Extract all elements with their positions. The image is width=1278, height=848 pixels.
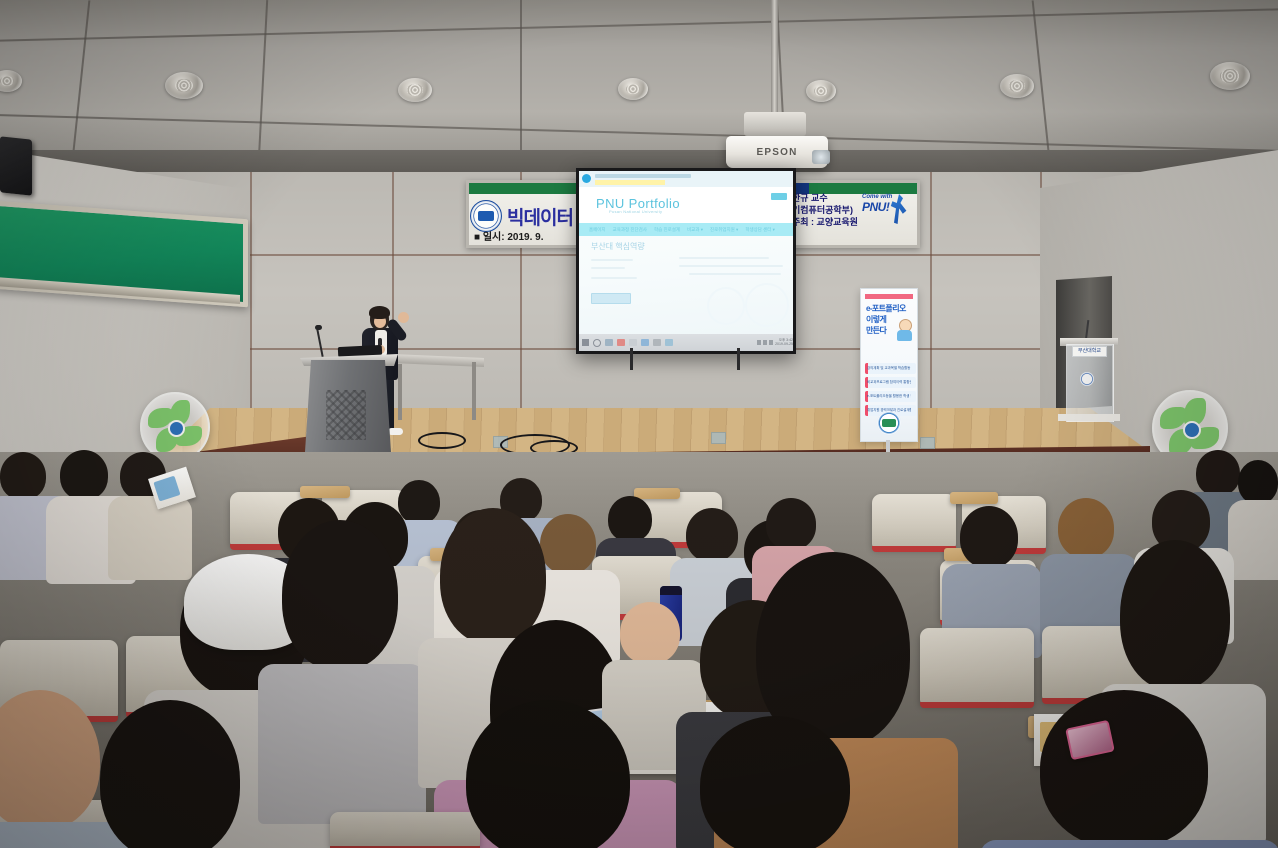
person-torso: [108, 496, 192, 580]
taskbar-app-icon[interactable]: [617, 339, 625, 346]
microphone-icon: [315, 325, 322, 330]
tablet-arm-desk: [300, 486, 350, 498]
tray-icon[interactable]: [763, 340, 767, 345]
banner-date-line: ■ 일시: 2019. 9.: [474, 228, 543, 243]
tablet-arm-desk: [950, 492, 998, 504]
taskbar-app-icon[interactable]: [665, 339, 673, 346]
power-cable: [418, 432, 466, 449]
ceiling-vent-icon: [1000, 74, 1034, 98]
nav-item[interactable]: 학습 진로설계: [654, 227, 680, 233]
site-logo-subtitle: Pusan National University: [609, 209, 662, 214]
lecture-chair[interactable]: [872, 494, 956, 548]
fan-hub: [1183, 421, 1201, 439]
nav-item[interactable]: 학생상담 센터 ▾: [745, 227, 775, 233]
projector-pipe: [771, 0, 778, 118]
wall-speaker-icon: [0, 136, 32, 195]
speaker-hand-right: [398, 312, 409, 323]
ceiling-vent-icon: [1210, 62, 1250, 90]
fan-blade: [1160, 407, 1186, 429]
ceiling-vent-icon: [165, 72, 203, 99]
university-seal-icon: [877, 411, 901, 435]
browser-url-bar[interactable]: [595, 174, 691, 178]
person-head: [440, 508, 546, 644]
projected-slide: PNU Portfolio Pusan National University …: [579, 171, 793, 351]
floor-outlet-icon: [711, 432, 726, 444]
person-head: [960, 506, 1018, 568]
banner-right-group: 한규 교수 기컴퓨터공학부) 주최 : 교양교육원: [792, 192, 864, 228]
taskbar-app-icon[interactable]: [653, 339, 661, 346]
person-head: [100, 700, 240, 848]
system-tray[interactable]: 오후 3:42 2019-09-25: [757, 338, 793, 346]
mascot-character-icon: [897, 319, 912, 341]
right-podium-base: [1058, 414, 1120, 421]
taskbar-clock[interactable]: 오후 3:42 2019-09-25: [775, 338, 793, 346]
ceiling-vent-icon: [0, 70, 22, 92]
roll-bullet-text: 비교과프로그램 참여이력 통합관리: [867, 377, 911, 388]
lecture-chair[interactable]: [920, 628, 1034, 704]
lecture-hall-photo: 빅데이터 ■ 일시: 2019. 9. 한규 교수 기컴퓨터공학부) 주최 : …: [0, 0, 1278, 848]
person-head: [1120, 540, 1230, 690]
person-head: [0, 452, 46, 500]
person-head: [540, 514, 596, 574]
person-torso: [980, 840, 1278, 848]
roll-bullet-text: e-포트폴리오등을 활용한 학생 진로설계 지원: [867, 391, 911, 402]
come-with-pnu-logo: Come with PNU!: [862, 194, 910, 234]
lecture-chair[interactable]: [330, 812, 480, 848]
person-head: [700, 716, 850, 848]
url-highlight: [595, 180, 665, 185]
phone-screen: [1068, 722, 1113, 758]
projector-brand-label: EPSON: [756, 147, 797, 158]
screen-stand: [630, 348, 740, 370]
banner-title: 빅데이터: [507, 203, 573, 230]
speaker-hair: [369, 306, 390, 319]
bottle-cap: [660, 586, 682, 595]
ceiling-vent-icon: [398, 78, 432, 102]
person-torso: [1228, 500, 1278, 580]
projector-lens-icon: [812, 150, 830, 164]
fan-hub: [168, 420, 185, 437]
table-leg: [398, 364, 402, 420]
person-head: [608, 496, 652, 542]
person-head: [282, 520, 398, 670]
taskbar-app-icon[interactable]: [629, 339, 637, 346]
person-head: [60, 450, 108, 500]
banner-speaker-line: 한규 교수: [792, 192, 864, 204]
roll-banner-top-tag: [865, 294, 913, 299]
start-button-icon[interactable]: [582, 339, 589, 346]
person-head: [398, 480, 440, 524]
roll-up-banner: e-포트폴리오이렇게만든다 강의계획 및 교과목별 학습활동 기록관리 비교과프…: [860, 288, 918, 442]
roll-bullet-text: 강의계획 및 교과목별 학습활동 기록관리: [867, 363, 911, 374]
browser-tab-icon: [582, 174, 591, 183]
banner-dept-line: 기컴퓨터공학부): [792, 204, 864, 216]
right-podium-sign: 부산대학교: [1072, 346, 1107, 357]
person-head: [1058, 498, 1114, 558]
ceiling: [0, 0, 1278, 160]
nav-item[interactable]: 비교과 ▾: [687, 227, 703, 233]
table-leg: [472, 362, 476, 420]
person-head: [1040, 690, 1208, 848]
ceiling-vent-icon: [618, 78, 648, 100]
ceiling-vent-icon: [806, 80, 836, 102]
banner-host-line: 주최 : 교양교육원: [792, 216, 864, 228]
university-emblem-icon: [1080, 372, 1094, 386]
person-torso: [258, 664, 426, 824]
taskbar-app-icon[interactable]: [641, 339, 649, 346]
clock-date: 2019-09-25: [775, 342, 793, 346]
person-head: [466, 700, 630, 848]
podium-grille: [326, 390, 366, 440]
person-head: [620, 602, 680, 664]
person-head: [766, 498, 816, 550]
person-head: [1238, 460, 1278, 504]
person-head: [1196, 450, 1240, 496]
site-login-button[interactable]: [771, 193, 787, 200]
handout-artwork: [153, 476, 180, 502]
tray-icon[interactable]: [757, 340, 761, 345]
nav-item[interactable]: 홈페이지: [589, 227, 606, 233]
slide-action-button[interactable]: [591, 293, 631, 304]
site-navbar: 홈페이지 교육과정 진단검사 학습 진로설계 비교과 ▾ 진로취업지원 ▾ 학생…: [579, 223, 793, 236]
search-icon[interactable]: [593, 339, 601, 347]
tray-icon[interactable]: [769, 340, 773, 345]
taskbar-app-icon[interactable]: [605, 339, 613, 346]
floor-outlet-icon: [920, 437, 935, 449]
nav-item[interactable]: 교육과정 진단검사: [613, 227, 647, 233]
projection-screen: PNU Portfolio Pusan National University …: [576, 168, 796, 354]
speaker-shoe: [388, 428, 403, 435]
nav-item[interactable]: 진로취업지원 ▾: [710, 227, 738, 233]
slide-page-heading: 부산대 핵심역량: [591, 241, 645, 252]
tablet-arm-desk: [634, 488, 680, 499]
projector-bracket: [744, 112, 806, 136]
person-head: [686, 508, 738, 562]
